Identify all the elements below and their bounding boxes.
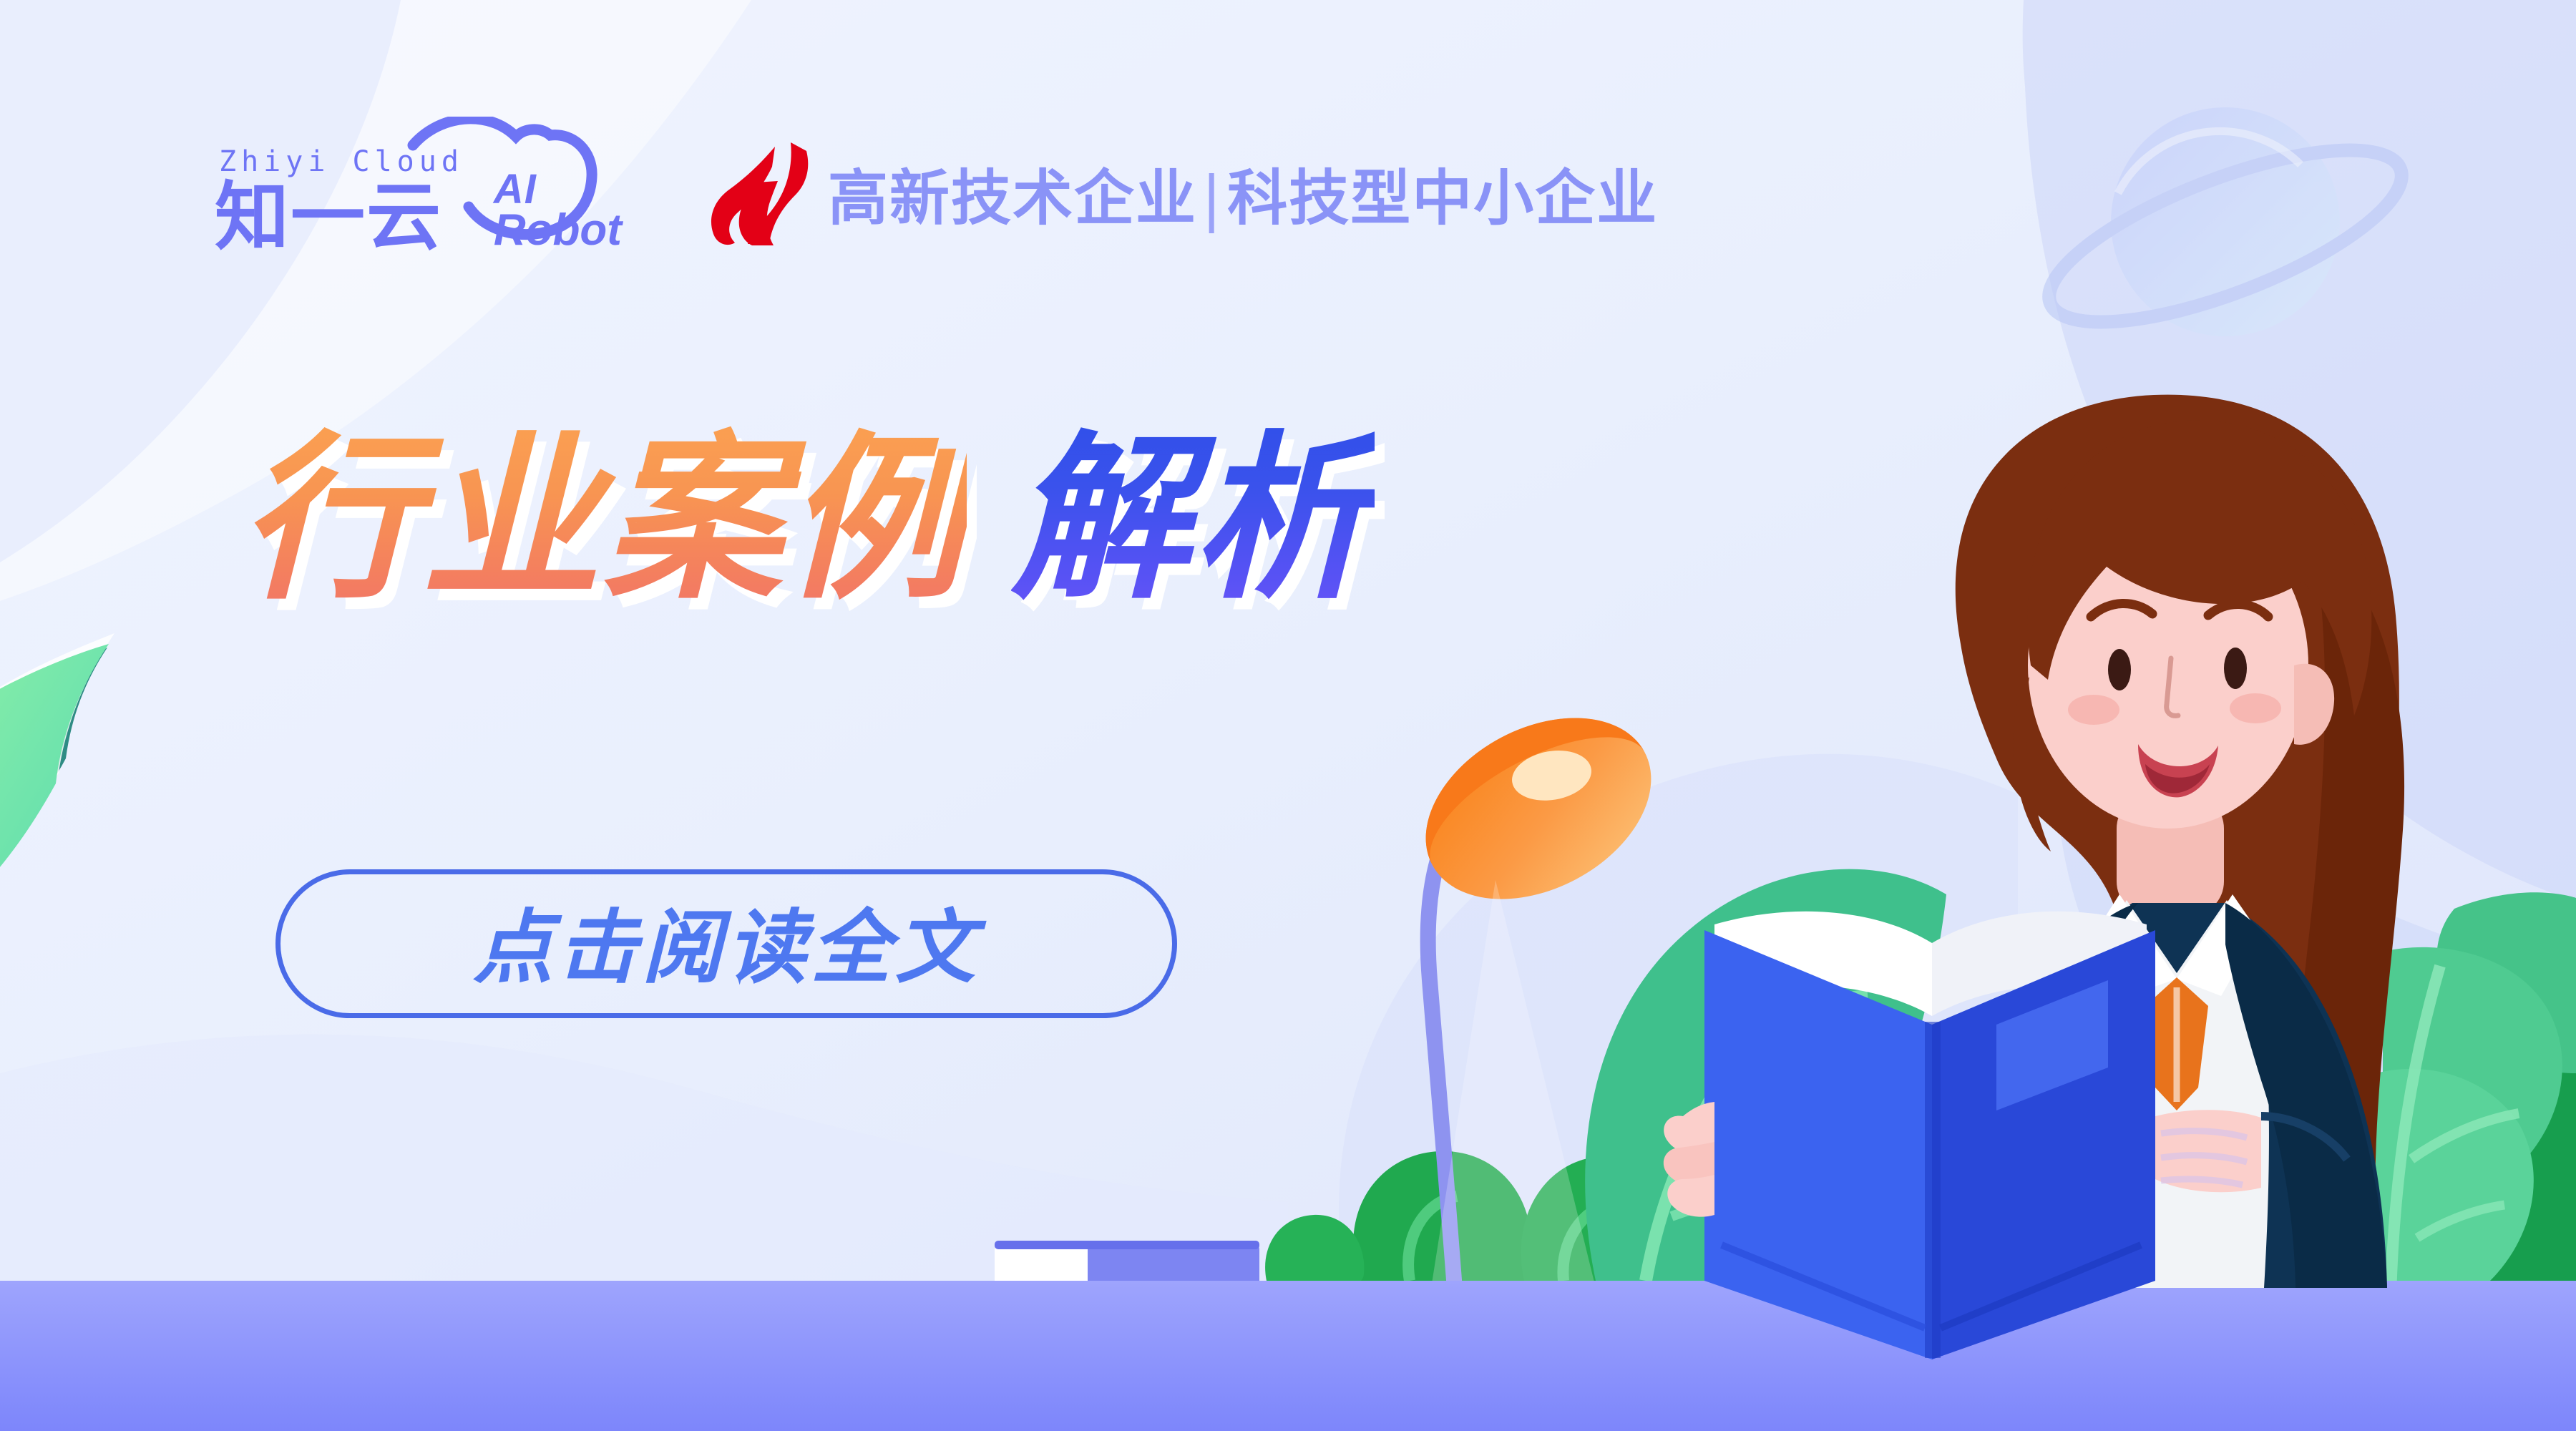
left-hand xyxy=(1664,1102,1714,1217)
cyan-book xyxy=(970,1283,1263,1331)
cloud-outline-icon xyxy=(397,117,597,249)
desk-lamp xyxy=(1375,681,1682,1389)
brand-logo[interactable]: Zhiyi Cloud 知一云 AI Robot xyxy=(215,132,622,254)
desk-surface xyxy=(0,1281,2576,1431)
cta-label: 点击阅读全文 xyxy=(473,883,980,999)
title-part-blue: 解析 xyxy=(1011,408,1375,632)
red-flame-torch-icon xyxy=(706,140,812,247)
bush-cluster-decoration xyxy=(1265,869,1946,1281)
right-plant-decoration xyxy=(2376,892,2576,1345)
cert-label-2: 科技型中小企业 xyxy=(1227,163,1658,233)
marketing-banner: Zhiyi Cloud 知一云 AI Robot 高新技术企业|科技型中小企业 xyxy=(0,0,2576,1431)
purple-book xyxy=(995,1241,1259,1286)
certification-badge: 高新技术企业|科技型中小企业 xyxy=(706,140,1658,247)
title-part-orange: 行业案例 xyxy=(240,408,967,632)
page-title: 行业案例 解析 xyxy=(240,408,1375,632)
orange-book xyxy=(1002,1327,1274,1375)
certification-text: 高新技术企业|科技型中小企业 xyxy=(828,150,1658,237)
cert-label-1: 高新技术企业 xyxy=(828,163,1197,233)
left-plant-decoration xyxy=(0,633,114,923)
cert-separator: | xyxy=(1197,163,1227,233)
right-hand xyxy=(2155,1110,2261,1192)
open-book xyxy=(1664,912,2261,1359)
lamp-light-cone xyxy=(1431,880,1596,1288)
header-row: Zhiyi Cloud 知一云 AI Robot 高新技术企业|科技型中小企业 xyxy=(215,132,1658,254)
read-full-article-button[interactable]: 点击阅读全文 xyxy=(275,869,1177,1018)
lamp-pole xyxy=(1428,794,1474,1359)
lamp-shade xyxy=(1395,681,1682,936)
woman-reading-illustration xyxy=(1956,395,2404,1288)
book-stack xyxy=(970,1241,1274,1375)
lamp-base xyxy=(1375,1337,1544,1389)
saturn-planet-icon xyxy=(2030,107,2421,357)
